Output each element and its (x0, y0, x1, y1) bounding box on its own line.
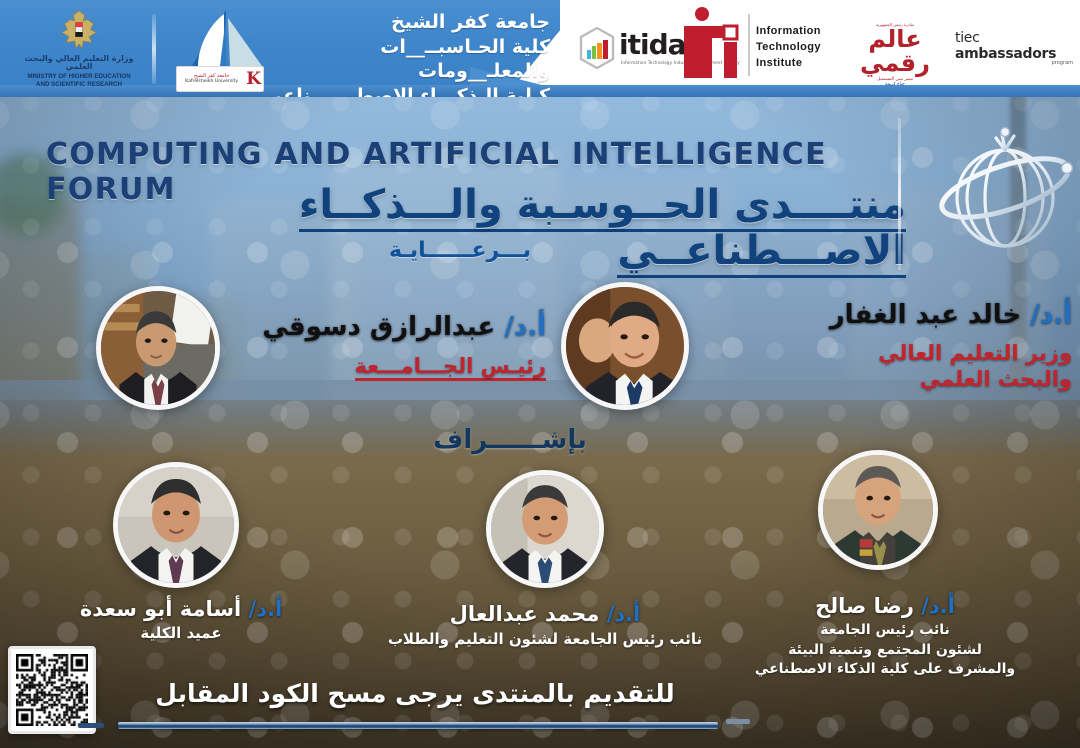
portrait-khaled-abdelghaffar (566, 287, 684, 405)
tiec-ambassadors-logo: tiec ambassadors program (955, 30, 1073, 66)
patron-title-line2: والبحث العلمي (700, 366, 1072, 392)
avatar-mohamed-abdelaal (486, 470, 604, 588)
president-name: أ.د/ عبدالرازق دسوقي (236, 312, 546, 342)
iti-line3: Institute (756, 56, 821, 72)
footer-rule (118, 722, 718, 729)
portrait-abdelrazek-dosouky (101, 291, 215, 405)
footer-dash-left (78, 723, 104, 728)
apply-instruction: للتقديم بالمنتدى يرجى مسح الكود المقابل (110, 679, 720, 708)
alam-wordmark: عالم رقمي (840, 27, 950, 75)
supervisor-1-title: عميد الكلية (36, 624, 326, 642)
supervisor-3-title: نائب رئيس الجامعة لشئون المجتمع وتنمية ا… (700, 621, 1070, 680)
avatar-khaled-abdelghaffar (561, 282, 689, 410)
avatar-osama-abo-saada (113, 462, 239, 588)
portrait-osama-abo-saada (118, 467, 234, 583)
president-prefix: أ.د/ (504, 312, 546, 342)
avatar-reda-saleh (818, 450, 938, 570)
supervisor-2-title: نائب رئيس الجامعة لشئون التعليم والطلاب (350, 630, 740, 648)
avatar-abdelrazek-dosouky (96, 286, 220, 410)
president-name-text: عبدالرازق دسوقي (262, 312, 495, 342)
iti-line1: Information (756, 24, 821, 40)
faculty-names: جامعة كفر الشيخ كلية الحـاسبــ__ات والمع… (250, 10, 550, 97)
supervisor-3-title-line1: نائب رئيس الجامعة (700, 621, 1070, 641)
egypt-eagle-emblem (56, 8, 102, 54)
president-title: رئيـس الجـــامـــعة (236, 354, 546, 378)
supervisor-1-name-text: أسامة أبو سعدة (80, 597, 241, 621)
patron-title-line1: وزير التعليم العالي (700, 340, 1072, 366)
itida-wordmark: itida (619, 28, 686, 61)
patron-name-text: خالد عبد الغفار (830, 300, 1022, 330)
faculty-ai-line: كـلية الـذكـــاء الاصطــ__ــناعي (250, 84, 550, 97)
supervisor-1-prefix: أ.د/ (249, 597, 283, 621)
supervisor-3-name: أ.د/ رضا صالح (730, 594, 1040, 618)
supervisor-2-name-text: محمد عبدالعال (450, 602, 600, 626)
iti-line2: Technology (756, 40, 821, 56)
supervisor-2-name: أ.د/ محمد عبدالعال (385, 602, 705, 626)
header-bar: وزارة التعليم العالي والبحث العلمي MINIS… (0, 0, 1080, 97)
supervisor-3-title-line3: والمشرف على كلية الذكاء الاصطناعي (700, 660, 1070, 680)
forum-title-arabic-text: منتــــدى الحــوسـبة والـــذكــاء الاصــ… (299, 182, 906, 278)
footer-dash-right (726, 719, 750, 724)
itida-hex-icon (575, 26, 619, 70)
iti-logo (680, 6, 742, 86)
university-name-line: جامعة كفر الشيخ (250, 10, 550, 35)
under-patronage-label: بـــرعــــــايـة (0, 238, 920, 263)
qr-code-image[interactable] (16, 654, 88, 726)
patron-prefix: أ.د/ (1030, 300, 1072, 330)
supervisor-1-name: أ.د/ أسامة أبو سعدة (36, 597, 326, 621)
president-title-text: رئيـس الجـــامـــعة (355, 354, 546, 381)
ministry-english-line2: AND SCIENTIFIC RESEARCH (36, 81, 122, 88)
alam-raqami-logo: مبادرة رئيس الجمهورية عالم رقمي مصر تبني… (840, 22, 950, 72)
globe-network-icon (930, 108, 1080, 273)
patron-title: وزير التعليم العالي والبحث العلمي (700, 340, 1072, 393)
itida-logo: itida Information Technology Industry De… (575, 22, 690, 74)
portrait-mohamed-abdelaal (491, 475, 599, 583)
tiec-word-bold: ambassadors (955, 46, 1056, 62)
title-vertical-rule (898, 118, 901, 270)
supervisor-3-prefix: أ.د/ (921, 594, 955, 618)
tiec-word-light: tiec (955, 30, 980, 46)
portrait-reda-saleh (823, 455, 933, 565)
ministry-logo: وزارة التعليم العالي والبحث العلمي MINIS… (14, 8, 144, 90)
kfs-badge-english: Kafrelsheikh University (185, 79, 238, 84)
supervisor-3-title-line2: لشئون المجتمع وتنمية البيئة (700, 641, 1070, 661)
qr-code[interactable] (8, 646, 96, 734)
patron-name: أ.د/ خالد عبد الغفار (700, 300, 1072, 330)
supervisor-2-prefix: أ.د/ (607, 602, 641, 626)
supervision-label: بإشــــــراف (360, 425, 660, 455)
ministry-english-line1: MINISTRY OF HIGHER EDUCATION (27, 73, 130, 80)
supervisor-3-name-text: رضا صالح (815, 594, 914, 618)
header-divider (152, 14, 156, 84)
alam-sub2-text: حياة كريمة (840, 82, 950, 87)
iti-wordmark: Information Technology Institute (756, 24, 821, 72)
event-poster: وزارة التعليم العالي والبحث العلمي MINIS… (0, 0, 1080, 748)
ministry-arabic-name: وزارة التعليم العالي والبحث العلمي (14, 55, 144, 71)
faculty-computers-line: كلية الحـاسبــ__ات والمعلـ__ومات (250, 35, 550, 84)
